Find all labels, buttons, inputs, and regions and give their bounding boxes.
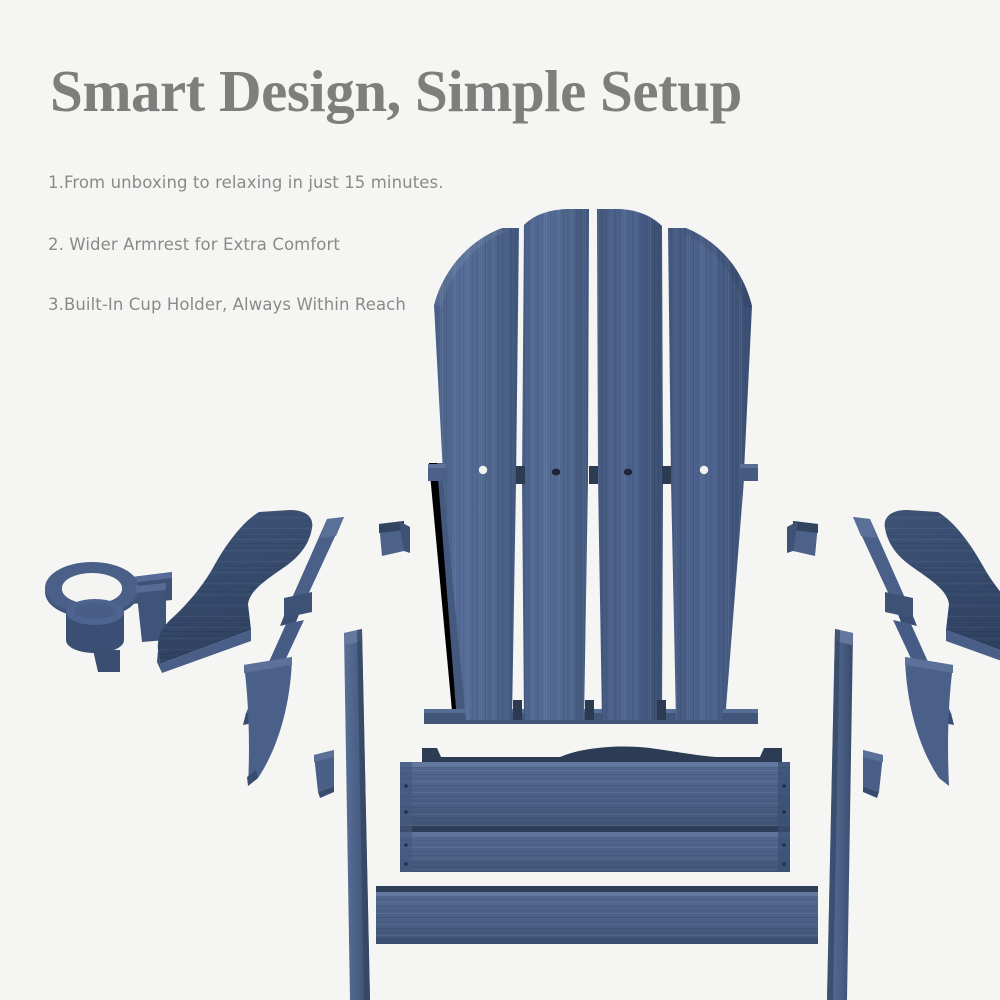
screw-hole: [552, 469, 561, 476]
seat-panel: [400, 746, 790, 872]
screw-hole: [700, 466, 708, 474]
small-block-left: [314, 750, 334, 798]
arm-bracket-left: [244, 657, 292, 786]
stretcher-board: [376, 886, 818, 944]
leg-right: [827, 629, 853, 1000]
chair-parts-canvas: [0, 0, 1000, 1000]
arm-bracket-right: [905, 657, 953, 786]
product-feature-graphic: Smart Design, Simple Setup 1.From unboxi…: [0, 0, 1000, 1000]
cup-holder: [45, 562, 172, 672]
spacer-block-right: [787, 521, 818, 556]
leg-left: [344, 629, 370, 1000]
small-block-right: [863, 750, 883, 798]
screw-hole: [479, 466, 487, 474]
screw-hole: [624, 469, 632, 476]
spacer-block-left: [379, 521, 410, 556]
